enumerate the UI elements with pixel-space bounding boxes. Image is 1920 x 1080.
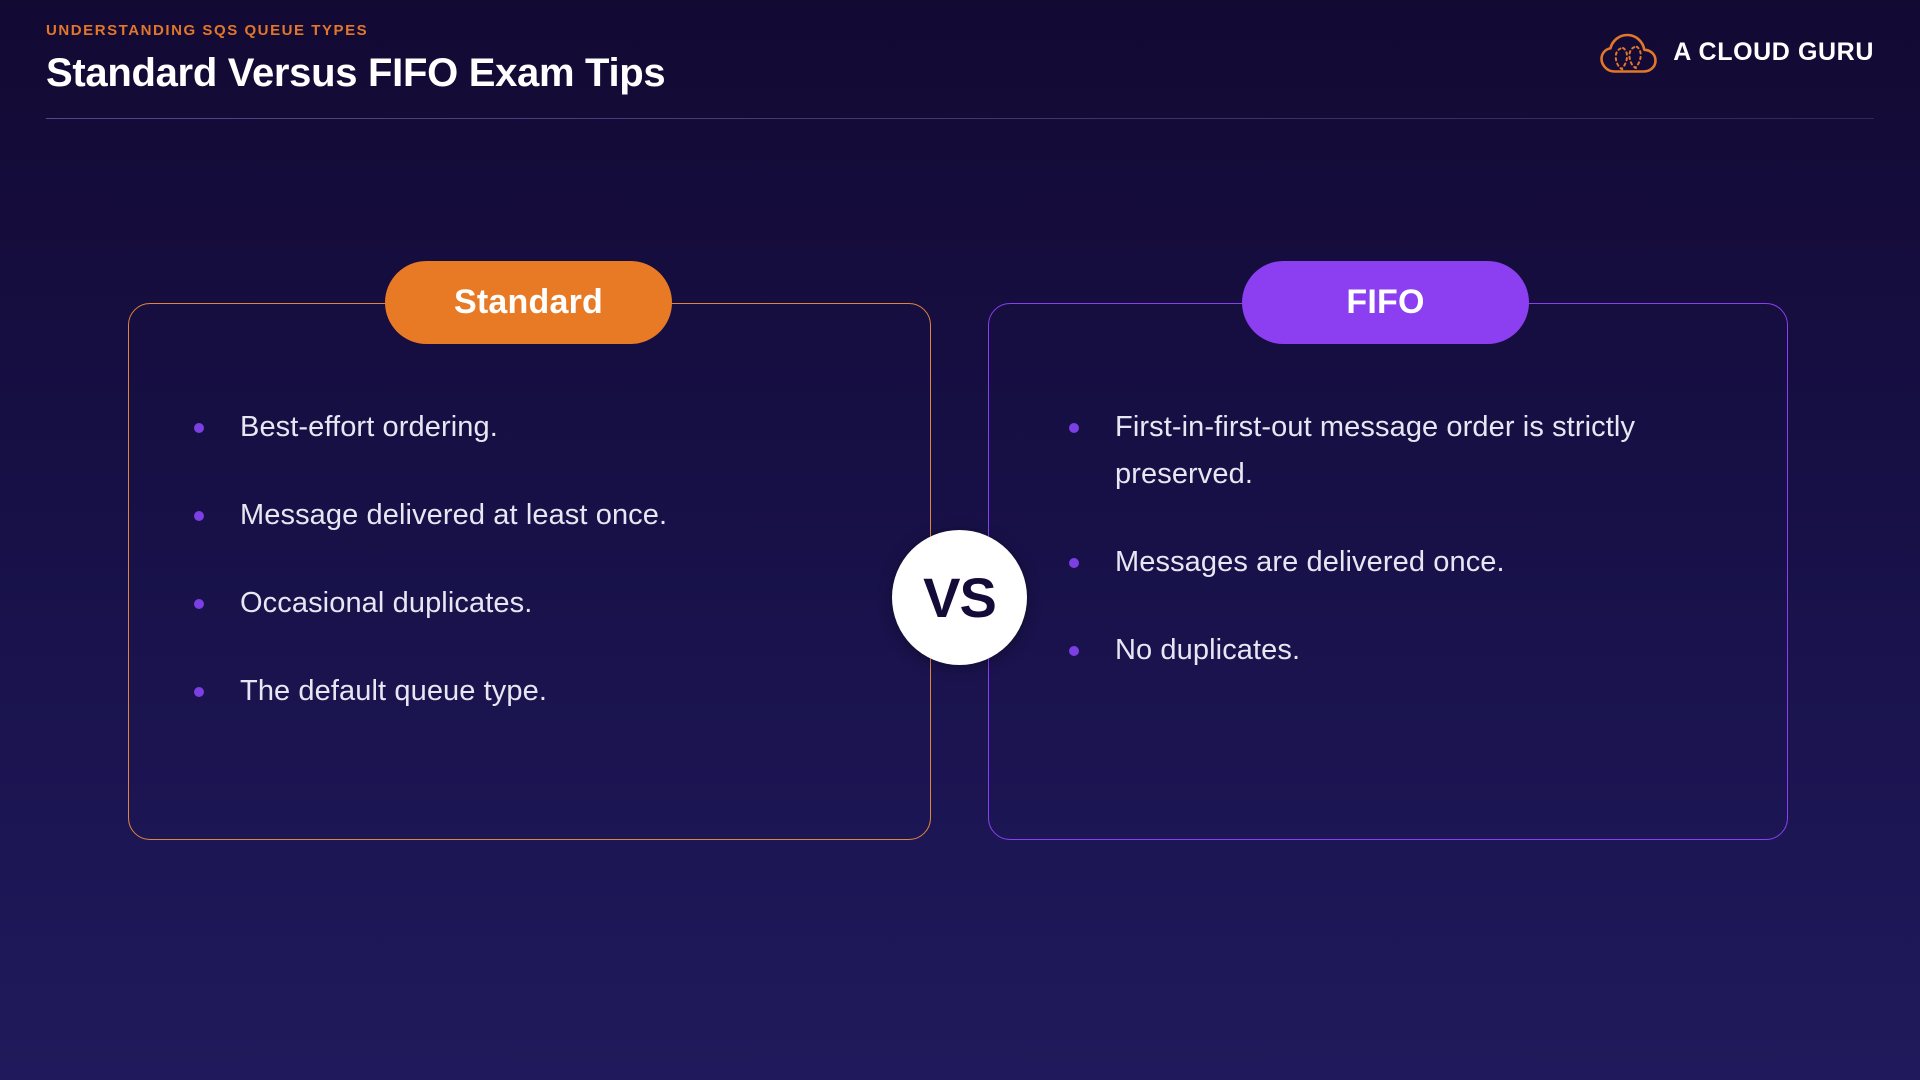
list-item: Messages are delivered once. bbox=[1065, 539, 1705, 586]
fifo-pill-label: FIFO bbox=[1242, 261, 1529, 344]
list-item: The default queue type. bbox=[190, 668, 830, 715]
list-item: No duplicates. bbox=[1065, 627, 1705, 674]
versus-label: VS bbox=[923, 570, 996, 626]
standard-pill-label: Standard bbox=[385, 261, 672, 344]
standard-bullet-list: Best-effort ordering. Message delivered … bbox=[190, 404, 830, 756]
list-item: Occasional duplicates. bbox=[190, 580, 830, 627]
comparison-area: Standard Best-effort ordering. Message d… bbox=[0, 0, 1920, 1080]
list-item: Message delivered at least once. bbox=[190, 492, 830, 539]
list-item: First-in-first-out message order is stri… bbox=[1065, 404, 1705, 498]
list-item: Best-effort ordering. bbox=[190, 404, 830, 451]
fifo-bullet-list: First-in-first-out message order is stri… bbox=[1065, 404, 1705, 715]
versus-badge: VS bbox=[892, 530, 1027, 665]
